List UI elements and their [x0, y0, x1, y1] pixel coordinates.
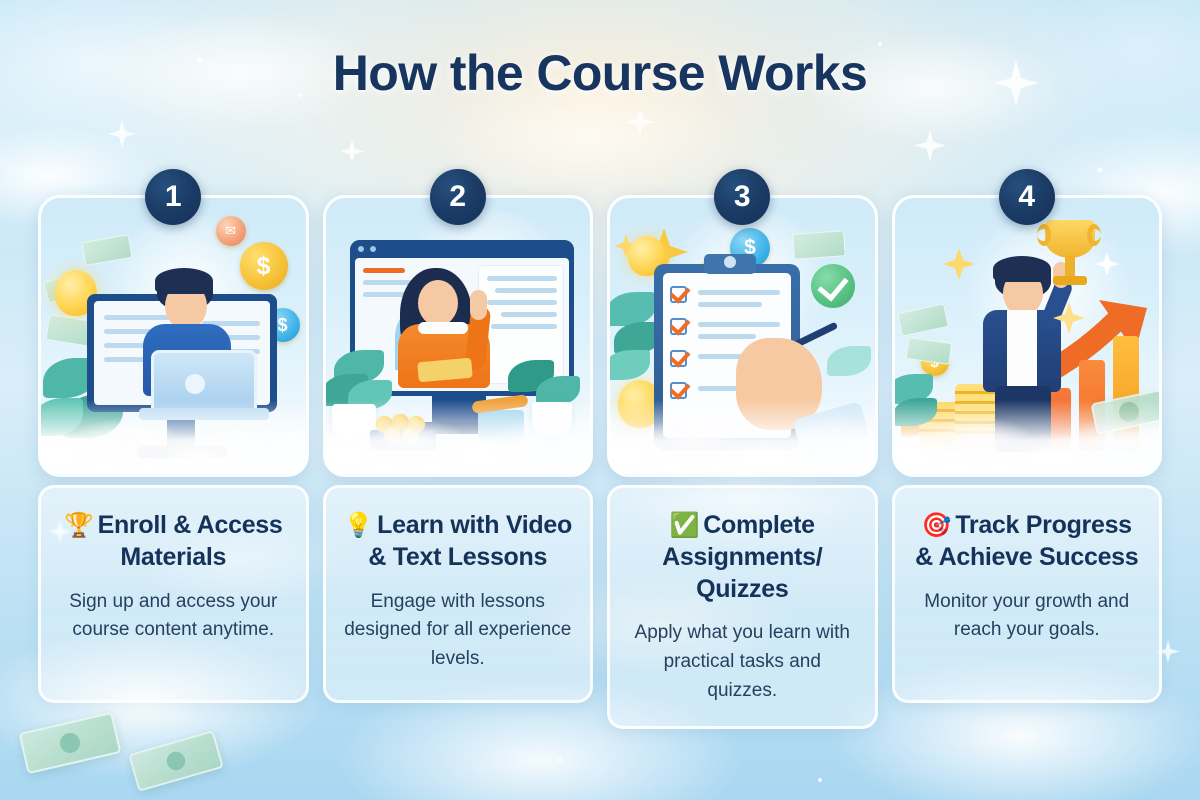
steps-row: 1 $ $ ✉: [38, 183, 1162, 729]
step-heading-text-2: Learn with Video & Text Lessons: [368, 511, 572, 571]
floating-banknote-1: [19, 712, 122, 775]
step-illustration-4: $: [892, 195, 1163, 477]
scene-assignments-quizzes: $: [610, 198, 875, 474]
step-number-badge-2: 2: [430, 169, 486, 225]
step-heading-2: 💡Learn with Video & Text Lessons: [344, 510, 573, 574]
trophy-emoji: 🏆: [64, 512, 94, 539]
step-body-2: Engage with lessons designed for all exp…: [344, 588, 573, 675]
green-check-icon: [811, 264, 855, 308]
check-mark-emoji: ✅: [670, 512, 700, 539]
step-heading-3: ✅Complete Assignments/ Quizzes: [628, 510, 857, 605]
step-card-3[interactable]: 3 $: [607, 183, 878, 729]
step-heading-1: 🏆Enroll & Access Materials: [59, 510, 288, 574]
step-card-4[interactable]: 4: [892, 183, 1163, 729]
step-number-badge-1: 1: [145, 169, 201, 225]
step-number-badge-3: 3: [714, 169, 770, 225]
step-illustration-1: $ $ ✉: [38, 195, 309, 477]
dollar-coin-icon: $: [240, 242, 288, 290]
step-body-3: Apply what you learn with practical task…: [628, 619, 857, 706]
message-icon: ✉: [216, 216, 246, 246]
step-text-card-3: ✅Complete Assignments/ Quizzes Apply wha…: [607, 485, 878, 729]
step-illustration-2: [323, 195, 594, 477]
step-heading-4: 🎯Track Progress & Achieve Success: [913, 510, 1142, 574]
scene-video-text-lessons: [326, 198, 591, 474]
step-number-badge-4: 4: [999, 169, 1055, 225]
step-card-1[interactable]: 1 $ $ ✉: [38, 183, 309, 729]
scene-track-progress: $: [895, 198, 1160, 474]
page-title: How the Course Works: [0, 44, 1200, 102]
step-text-card-2: 💡Learn with Video & Text Lessons Engage …: [323, 485, 594, 703]
infographic-poster: How the Course Works 1 $ $ ✉: [0, 0, 1200, 800]
lightbulb-emoji: 💡: [344, 512, 374, 539]
step-body-1: Sign up and access your course content a…: [59, 588, 288, 646]
scene-enroll-access: $ $ ✉: [41, 198, 306, 474]
step-text-card-1: 🏆Enroll & Access Materials Sign up and a…: [38, 485, 309, 703]
direct-hit-emoji: 🎯: [922, 512, 952, 539]
step-text-card-4: 🎯Track Progress & Achieve Success Monito…: [892, 485, 1163, 703]
step-card-2[interactable]: 2: [323, 183, 594, 729]
step-illustration-3: $: [607, 195, 878, 477]
floating-banknote-2: [128, 730, 224, 791]
step-heading-text-1: Enroll & Access Materials: [98, 511, 283, 571]
step-body-4: Monitor your growth and reach your goals…: [913, 588, 1142, 646]
